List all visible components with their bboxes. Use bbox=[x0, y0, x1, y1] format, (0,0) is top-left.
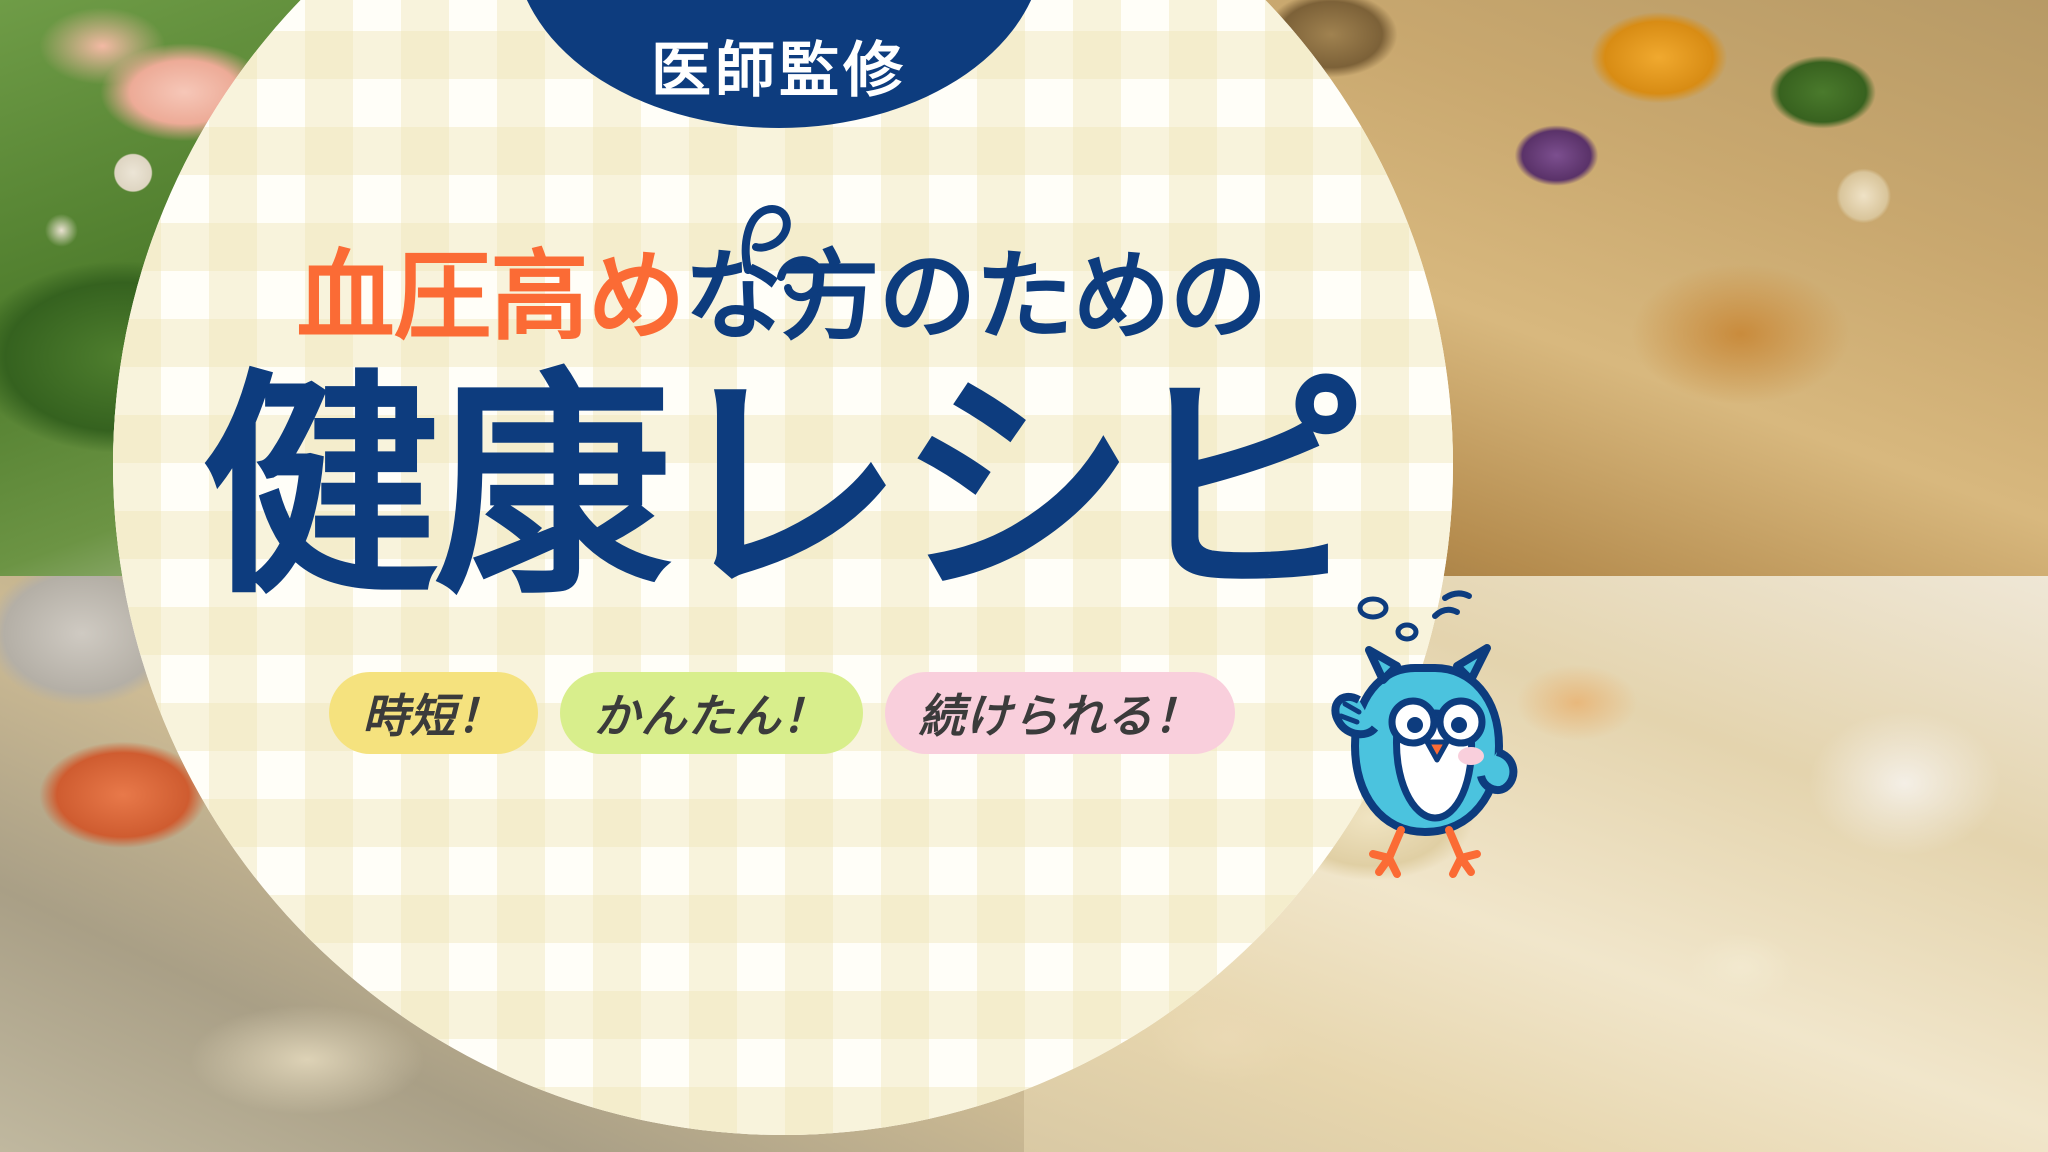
main-title: 健康レシピ bbox=[0, 370, 1563, 608]
doctor-supervised-badge-label: 医師監修 bbox=[514, 22, 1044, 109]
pill-jitan: 時短！ bbox=[329, 672, 538, 754]
swirl-small-icon bbox=[775, 253, 825, 305]
owl-mascot bbox=[1285, 580, 1555, 880]
subtitle-highlight: 血圧高め bbox=[296, 240, 684, 354]
pill-kantan: かんたん！ bbox=[560, 672, 863, 754]
pill-tsuzukerareru: 続けられる！ bbox=[885, 672, 1235, 754]
